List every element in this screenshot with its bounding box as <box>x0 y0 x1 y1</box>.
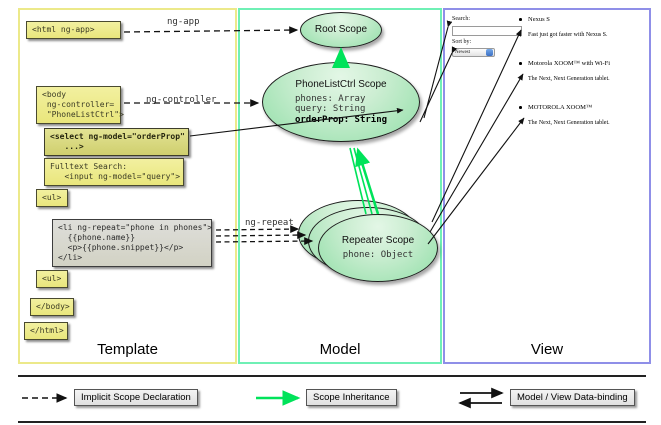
code-box-ul-close-tag: <ul> <box>36 270 68 288</box>
code-box-body-tag: <body ng-controller= "PhoneListCtrl"> <box>36 86 121 124</box>
code-box-ul-open-tag: <ul> <box>36 189 68 207</box>
view-mockup: Search: Sort by: Newest Nexus S Fast jus… <box>450 14 642 350</box>
bullet-icon-2 <box>519 106 522 109</box>
legend: Implicit Scope Declaration Scope Inherit… <box>18 375 646 423</box>
legend-label-scope-inheritance: Scope Inheritance <box>306 389 397 406</box>
code-box-select-tag: <select ng-model="orderProp" ...> <box>44 128 189 156</box>
phone-list-item-2[interactable]: MOTOROLA XOOM™ <box>528 104 592 111</box>
sort-by-value: Newest <box>455 50 470 55</box>
root-scope-title: Root Scope <box>315 24 367 36</box>
sort-by-select[interactable]: Newest <box>452 48 495 57</box>
code-box-search-input-tag: Fulltext Search: <input ng-model="query"… <box>44 158 184 186</box>
view-search-label: Search: <box>452 16 470 22</box>
view-sort-label: Sort by: <box>452 39 471 45</box>
edge-label-ng-repeat: ng-repeat <box>245 218 294 228</box>
phonelistctrl-scope-ellipse: PhoneListCtrl Scope phones: Array query:… <box>262 62 420 142</box>
legend-label-model-view-data-binding: Model / View Data-binding <box>510 389 635 406</box>
repeater-scope-ellipse: Repeater Scope phone: Object <box>318 214 438 282</box>
panel-label-template: Template <box>20 341 235 358</box>
phone-name-2: MOTOROLA XOOM™ <box>528 104 592 111</box>
edge-label-ng-app: ng-app <box>167 17 200 27</box>
prop-phone: phone: Object <box>343 250 413 261</box>
phone-snippet-1: The Next, Next Generation tablet. <box>528 76 610 82</box>
phone-name-0: Nexus S <box>528 16 550 23</box>
phone-snippet-0: Fast just got faster with Nexus S. <box>528 32 608 38</box>
diagram-canvas: Template Model View <html ng-app> <body … <box>0 0 661 425</box>
repeater-scope-props: phone: Object <box>343 250 413 261</box>
code-box-li-repeat-tag: <li ng-repeat="phone in phones"> {{phone… <box>52 219 212 267</box>
bullet-icon-0 <box>519 18 522 21</box>
prop-orderprop: orderProp: String <box>295 115 387 126</box>
panel-label-model: Model <box>240 341 440 358</box>
legend-label-implicit-scope-declaration: Implicit Scope Declaration <box>74 389 198 406</box>
phone-name-1: Motorola XOOM™ with Wi-Fi <box>528 60 610 67</box>
phone-snippet-2: The Next, Next Generation tablet. <box>528 120 610 126</box>
phone-list-item-1[interactable]: Motorola XOOM™ with Wi-Fi <box>528 60 610 67</box>
bullet-icon-1 <box>519 62 522 65</box>
code-box-html-close-tag: </html> <box>24 322 68 340</box>
prop-phones: phones: Array <box>295 94 387 105</box>
search-input[interactable] <box>452 26 522 36</box>
root-scope-ellipse: Root Scope <box>300 12 382 48</box>
prop-query: query: String <box>295 104 387 115</box>
edge-label-ng-controller: ng-controller <box>146 95 216 105</box>
phonelistctrl-scope-props: phones: Array query: String orderProp: S… <box>295 94 387 126</box>
code-box-html-tag: <html ng-app> <box>26 21 121 39</box>
phonelistctrl-scope-title: PhoneListCtrl Scope <box>295 79 386 91</box>
phone-list-item-0[interactable]: Nexus S <box>528 16 550 23</box>
repeater-scope-title: Repeater Scope <box>342 235 414 247</box>
chevron-down-icon <box>486 49 493 56</box>
code-box-body-close-tag: </body> <box>30 298 74 316</box>
